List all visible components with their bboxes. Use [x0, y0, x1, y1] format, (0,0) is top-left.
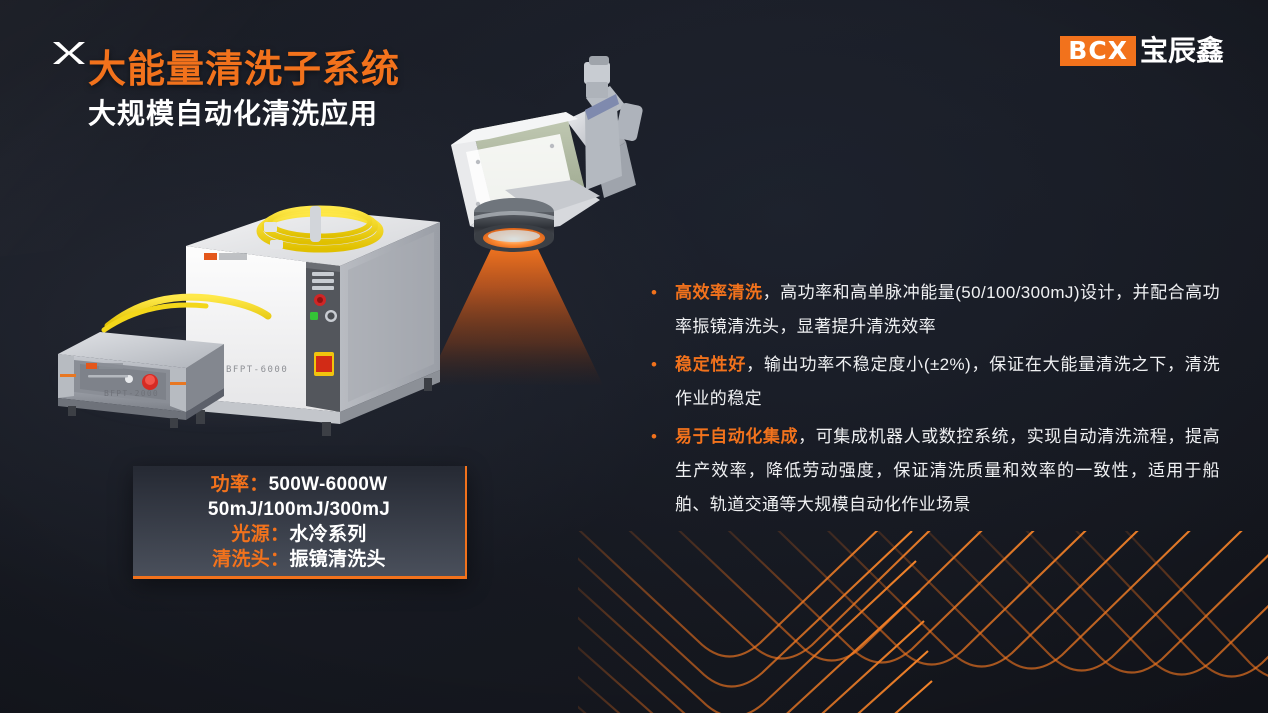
bullet-marker: •: [648, 276, 675, 310]
bullet-highlight: 高效率清洗: [675, 283, 763, 302]
bullet-highlight: 稳定性好: [675, 355, 746, 374]
logo-badge: BCX: [1060, 36, 1136, 66]
feature-bullet-list: • 高效率清洗，高功率和高单脉冲能量(50/100/300mJ)设计，并配合高功…: [648, 276, 1220, 526]
spec-value: 振镜清洗头: [289, 549, 386, 570]
bullet-highlight: 易于自动化集成: [675, 427, 798, 446]
spec-row: 功率：500W-6000W: [211, 472, 388, 497]
fiber-cable-coil: [260, 206, 380, 249]
spec-label: 光源：: [231, 524, 289, 545]
spec-value: 500W-6000W: [269, 474, 388, 495]
list-item: • 稳定性好，输出功率不稳定度小(±2%)，保证在大能量清洗之下，清洗作业的稳定: [648, 348, 1220, 416]
bullet-text: 高效率清洗，高功率和高单脉冲能量(50/100/300mJ)设计，并配合高功率振…: [675, 276, 1220, 344]
cleaning-cabinet: [186, 206, 440, 436]
product-illustration: BFPT-6000: [0, 0, 700, 470]
spec-row: 光源：水冷系列: [231, 522, 366, 547]
spec-value: 水冷系列: [289, 524, 366, 545]
list-item: • 高效率清洗，高功率和高单脉冲能量(50/100/300mJ)设计，并配合高功…: [648, 276, 1220, 344]
spec-value: 50mJ/100mJ/300mJ: [208, 499, 390, 520]
company-logo: BCX 宝辰鑫: [1060, 36, 1224, 66]
spec-row: 50mJ/100mJ/300mJ: [208, 497, 390, 522]
specification-box: 功率：500W-6000W 50mJ/100mJ/300mJ 光源：水冷系列 清…: [133, 466, 467, 579]
list-item: • 易于自动化集成，可集成机器人或数控系统，实现自动清洗流程，提高生产效率，降低…: [648, 420, 1220, 522]
bullet-body: ，输出功率不稳定度小(±2%)，保证在大能量清洗之下，清洗作业的稳定: [675, 355, 1220, 408]
slide-root: 大能量清洗子系统 大规模自动化清洗应用 BCX 宝辰鑫: [0, 0, 1268, 713]
spec-row: 清洗头：振镜清洗头: [212, 547, 386, 572]
laser-beam-cone: [426, 239, 603, 385]
logo-company-name: 宝辰鑫: [1140, 37, 1224, 65]
cabinet-model-label: BFPT-6000: [226, 365, 288, 375]
bullet-text: 稳定性好，输出功率不稳定度小(±2%)，保证在大能量清洗之下，清洗作业的稳定: [675, 348, 1220, 416]
spec-label: 功率：: [211, 474, 269, 495]
galvo-cleaning-head: [451, 56, 644, 252]
bullet-marker: •: [648, 420, 675, 454]
bullet-text: 易于自动化集成，可集成机器人或数控系统，实现自动清洗流程，提高生产效率，降低劳动…: [675, 420, 1220, 522]
cabinet-brand-chip: [204, 253, 247, 260]
bullet-marker: •: [648, 348, 675, 382]
source-model-label: BFPT-2000: [104, 389, 159, 398]
spec-label: 清洗头：: [212, 549, 289, 570]
